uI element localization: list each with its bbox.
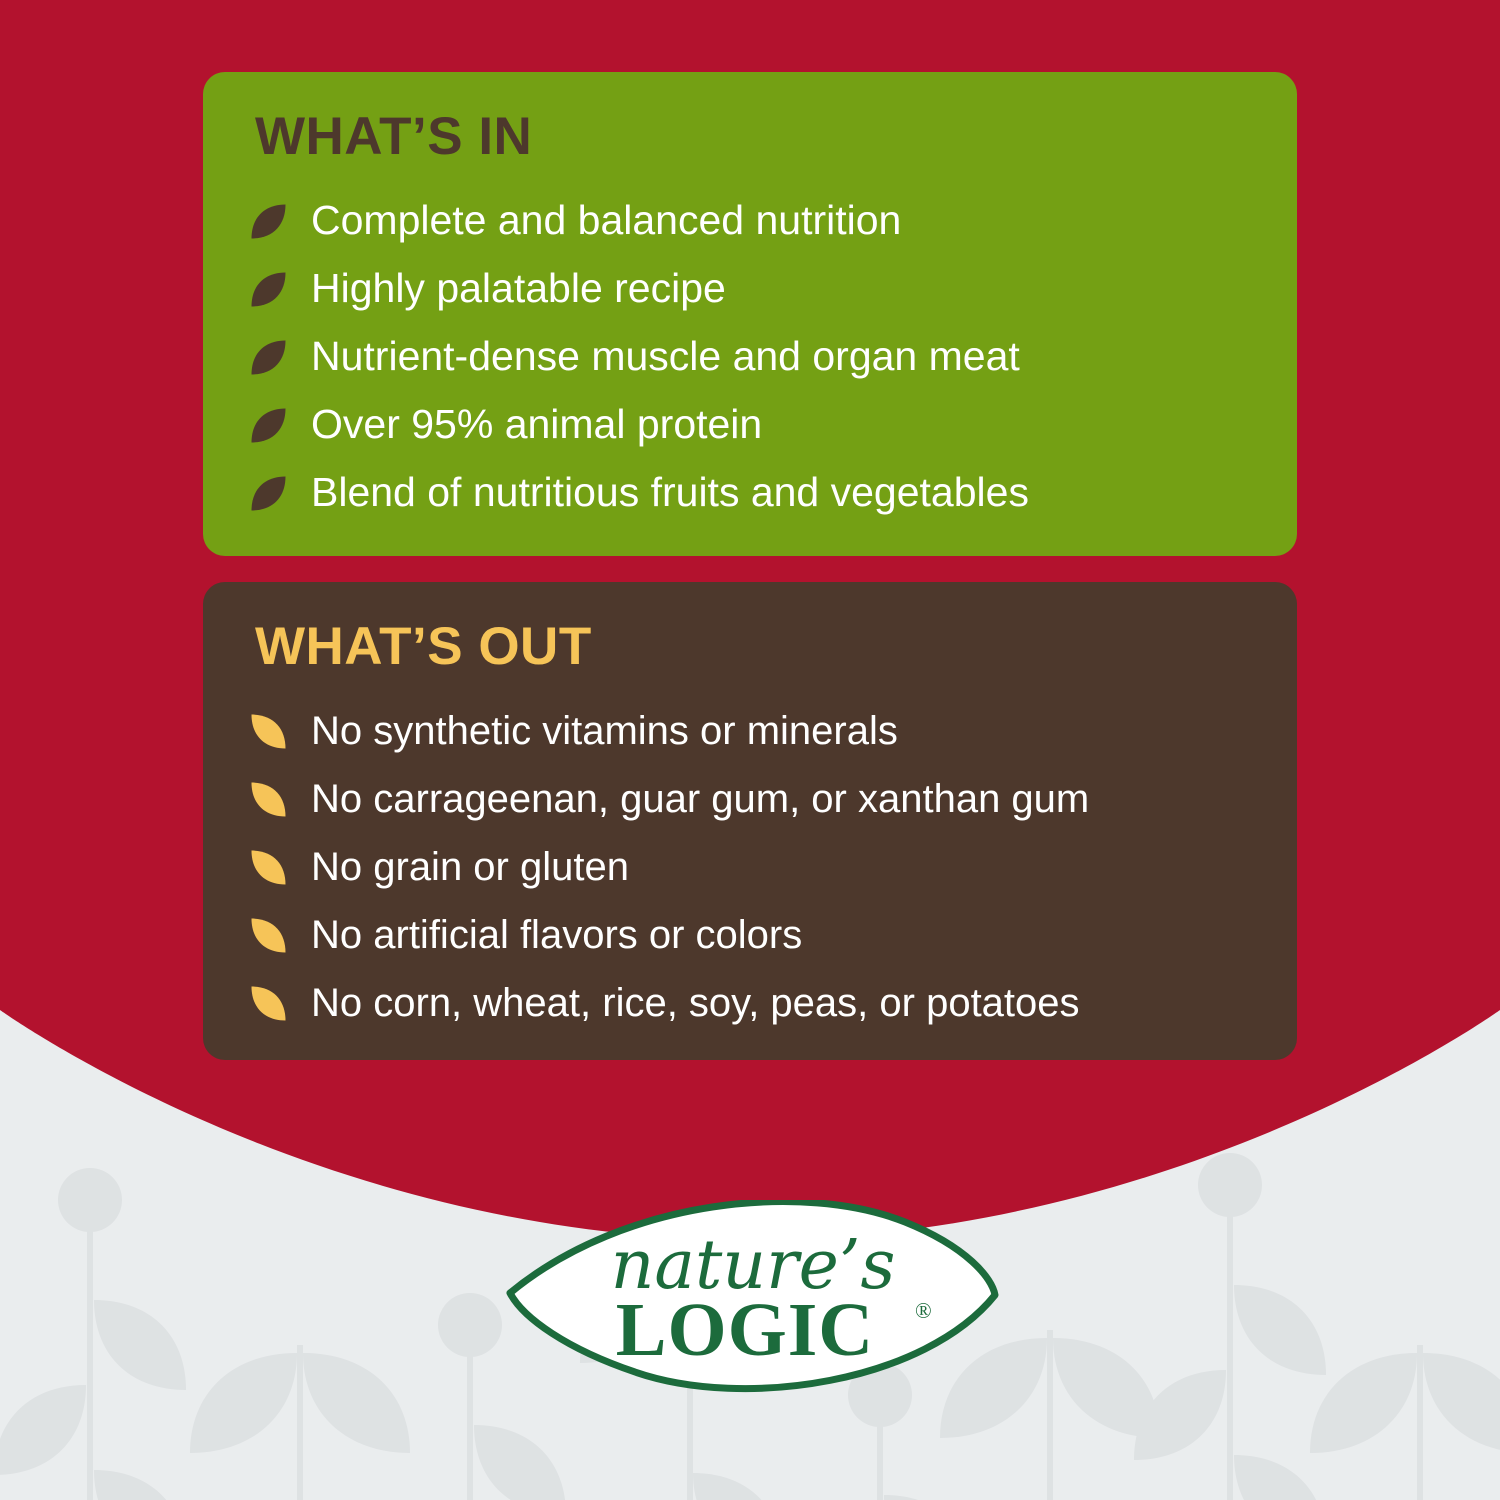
natures-logic-logo[interactable]: nature’s LOGIC ® [505, 1200, 1000, 1400]
list-item: No synthetic vitamins or minerals [247, 701, 1253, 761]
leaf-icon [247, 710, 289, 752]
whats-out-panel: WHAT’S OUT No synthetic vitamins or mine… [203, 582, 1297, 1060]
whats-out-heading: WHAT’S OUT [255, 620, 1253, 673]
list-item-label: Highly palatable recipe [311, 267, 726, 310]
list-item: No artificial flavors or colors [247, 905, 1253, 965]
list-item-label: No artificial flavors or colors [311, 914, 802, 956]
leaf-icon [247, 982, 289, 1024]
leaf-icon [247, 778, 289, 820]
leaf-icon [247, 472, 289, 514]
list-item-label: No corn, wheat, rice, soy, peas, or pota… [311, 982, 1080, 1024]
leaf-icon [247, 846, 289, 888]
list-item: Nutrient-dense muscle and organ meat [247, 327, 1253, 387]
registered-mark: ® [915, 1298, 932, 1323]
logo-wordmark-text: LOGIC [616, 1288, 874, 1372]
list-item: No grain or gluten [247, 837, 1253, 897]
list-item: Over 95% animal protein [247, 395, 1253, 455]
leaf-icon [247, 914, 289, 956]
whats-in-heading: WHAT’S IN [255, 110, 1253, 163]
leaf-icon [247, 268, 289, 310]
whats-in-list: Complete and balanced nutrition Highly p… [247, 191, 1253, 523]
list-item-label: No synthetic vitamins or minerals [311, 710, 898, 752]
list-item: No carrageenan, guar gum, or xanthan gum [247, 769, 1253, 829]
list-item-label: No grain or gluten [311, 846, 629, 888]
list-item-label: Blend of nutritious fruits and vegetable… [311, 471, 1029, 514]
list-item-label: No carrageenan, guar gum, or xanthan gum [311, 778, 1089, 820]
list-item: Complete and balanced nutrition [247, 191, 1253, 251]
list-item-label: Nutrient-dense muscle and organ meat [311, 335, 1020, 378]
list-item: No corn, wheat, rice, soy, peas, or pota… [247, 973, 1253, 1033]
leaf-icon [247, 200, 289, 242]
whats-out-list: No synthetic vitamins or minerals No car… [247, 701, 1253, 1033]
leaf-icon [247, 336, 289, 378]
list-item-label: Complete and balanced nutrition [311, 199, 901, 242]
list-item: Blend of nutritious fruits and vegetable… [247, 463, 1253, 523]
leaf-icon [247, 404, 289, 446]
list-item-label: Over 95% animal protein [311, 403, 762, 446]
list-item: Highly palatable recipe [247, 259, 1253, 319]
whats-in-panel: WHAT’S IN Complete and balanced nutritio… [203, 72, 1297, 556]
